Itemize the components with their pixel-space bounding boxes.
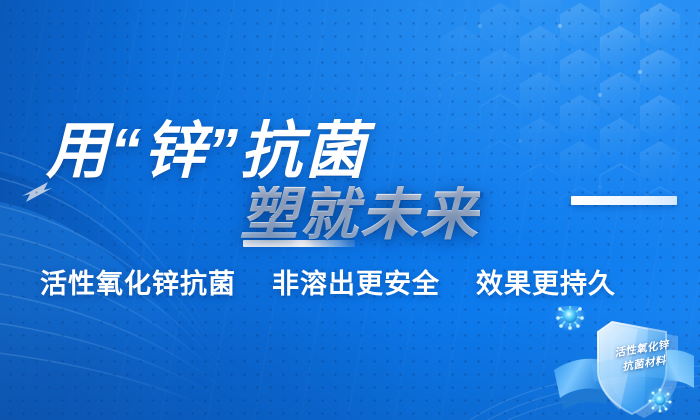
virus-icon-top <box>554 306 586 332</box>
virus-icon-bottom <box>646 386 674 414</box>
product-badge: 活性氧化锌 抗菌材料 <box>548 306 700 420</box>
subtitle-item-2: 非溶出更安全 <box>272 262 440 301</box>
subtitle-group: 活性氧化锌抗菌 非溶出更安全 效果更持久 <box>40 264 670 298</box>
promo-banner: 用“锌”抗菌 塑就未来 活性氧化锌抗菌 非溶出更安全 效果更持久 <box>0 0 700 420</box>
subtitle-item-3: 效果更持久 <box>476 262 616 301</box>
subtitle-item-1: 活性氧化锌抗菌 <box>40 262 236 301</box>
